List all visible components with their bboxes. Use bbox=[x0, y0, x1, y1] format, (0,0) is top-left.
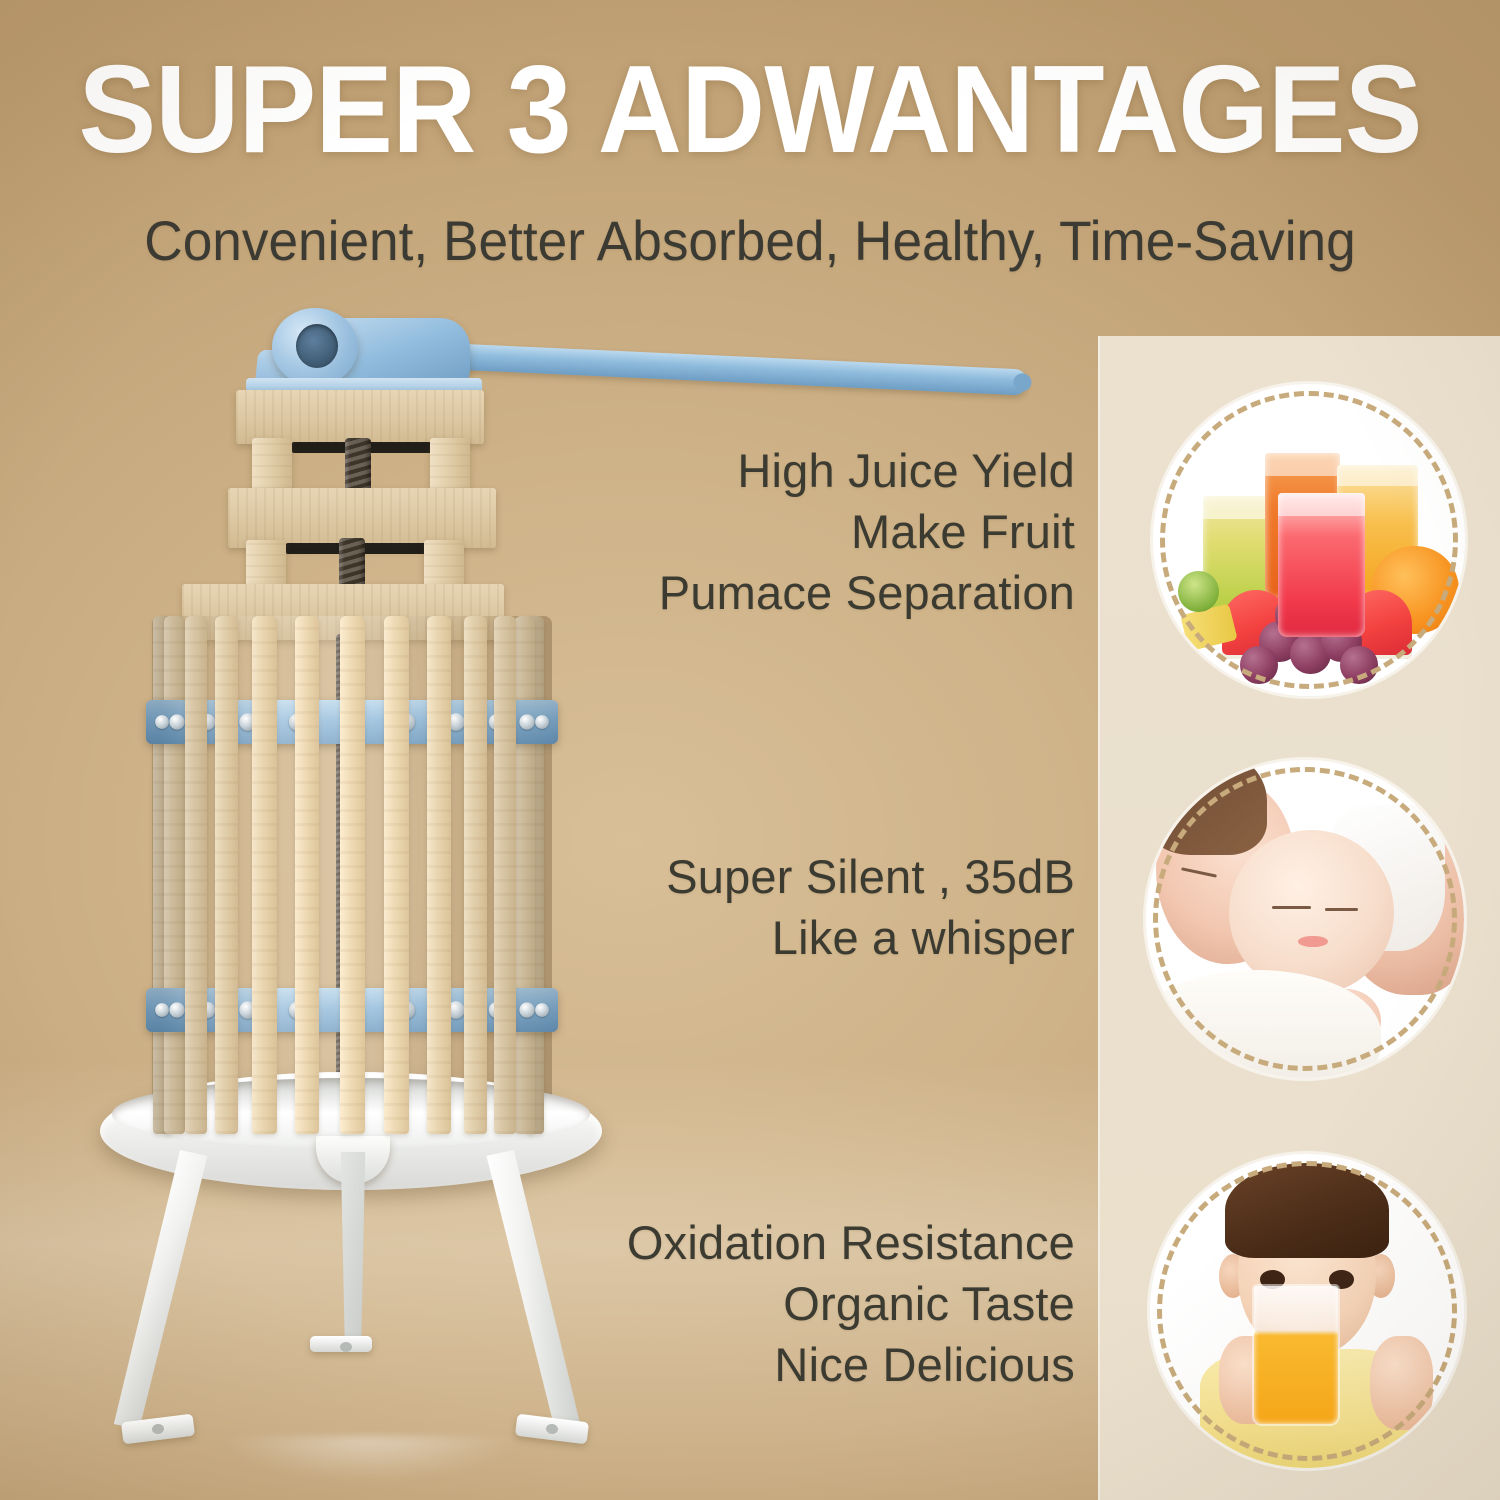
band-rivet bbox=[535, 715, 549, 729]
boy-drinking-juice-photo bbox=[1150, 1154, 1464, 1468]
feature-line: Pumace Separation bbox=[659, 562, 1075, 623]
boy-thumbs-up-hand bbox=[1370, 1336, 1433, 1430]
feature-line: High Juice Yield bbox=[659, 440, 1075, 501]
wooden-slat-barrel bbox=[152, 616, 552, 1134]
floor-reflection bbox=[160, 1436, 580, 1500]
ratchet-lever-handle bbox=[419, 342, 1028, 396]
stand-leg-right bbox=[486, 1148, 580, 1431]
fruit-juice-glasses-photo bbox=[1153, 384, 1465, 696]
feature-line: Like a whisper bbox=[666, 907, 1075, 968]
mother-baby-sleeping-photo bbox=[1146, 760, 1464, 1078]
barrel-slat bbox=[384, 616, 409, 1134]
feature-line: Oxidation Resistance bbox=[627, 1212, 1075, 1273]
barrel-slat bbox=[215, 616, 238, 1134]
barrel-slat bbox=[464, 616, 487, 1134]
boy-hair bbox=[1225, 1163, 1388, 1257]
band-rivet bbox=[170, 714, 185, 729]
feature-block-oxidation-resistance: Oxidation Resistance Organic Taste Nice … bbox=[627, 1212, 1075, 1395]
barrel-slat bbox=[427, 616, 451, 1134]
lime-slice bbox=[1178, 571, 1219, 612]
barrel-slat bbox=[295, 616, 320, 1134]
grape bbox=[1340, 646, 1377, 683]
feature-line: Organic Taste bbox=[627, 1273, 1075, 1334]
feature-line: Nice Delicious bbox=[627, 1334, 1075, 1395]
feature-line: Super Silent , 35dB bbox=[666, 846, 1075, 907]
band-rivet bbox=[155, 715, 169, 729]
photo-content bbox=[1153, 384, 1465, 696]
page-title: SUPER 3 ADWANTAGES bbox=[45, 48, 1455, 172]
barrel-slat bbox=[494, 616, 516, 1134]
photo-side-panel bbox=[1098, 336, 1500, 1500]
barrel-slat bbox=[252, 616, 276, 1134]
feature-block-high-juice-yield: High Juice Yield Make Fruit Pumace Separ… bbox=[659, 440, 1075, 623]
page-subtitle: Convenient, Better Absorbed, Healthy, Ti… bbox=[38, 212, 1463, 271]
barrel-slat bbox=[340, 616, 365, 1134]
photo-content bbox=[1150, 1154, 1464, 1468]
mother-hair bbox=[1146, 760, 1267, 855]
band-rivet bbox=[535, 1003, 549, 1017]
band-rivet bbox=[170, 1002, 185, 1017]
grape bbox=[1240, 646, 1277, 683]
band-rivet bbox=[519, 714, 534, 729]
feature-block-super-silent: Super Silent , 35dB Like a whisper bbox=[666, 846, 1075, 968]
orange-juice-glass bbox=[1254, 1286, 1339, 1424]
barrel-slat bbox=[185, 616, 207, 1134]
barrel-slat bbox=[164, 616, 185, 1134]
poster-canvas: SUPER 3 ADWANTAGES Convenient, Better Ab… bbox=[0, 0, 1500, 1500]
ratchet-screw-hole bbox=[296, 324, 338, 368]
stand-foot-rear bbox=[310, 1336, 372, 1352]
photo-content bbox=[1146, 760, 1464, 1078]
barrel-slat bbox=[515, 616, 536, 1134]
watermelon-juice-glass bbox=[1278, 493, 1365, 637]
stand-leg-left bbox=[114, 1148, 208, 1431]
press-beam-top bbox=[236, 390, 484, 444]
band-rivet bbox=[155, 1003, 169, 1017]
band-rivet bbox=[519, 1002, 534, 1017]
feature-line: Make Fruit bbox=[659, 501, 1075, 562]
